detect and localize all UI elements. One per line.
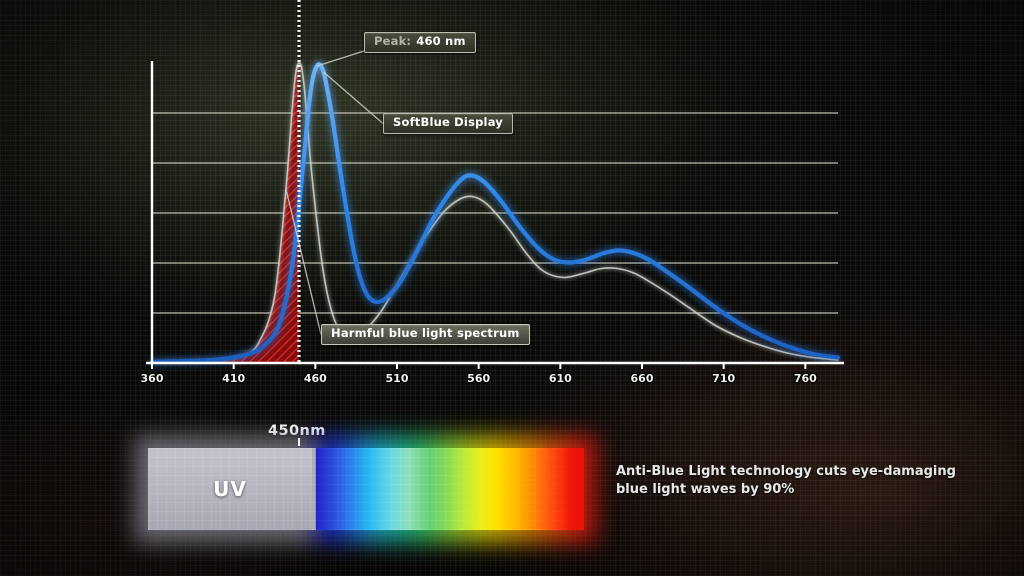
x-axis-label-660: 660 bbox=[631, 372, 654, 385]
callout-softblue-label: SoftBlue Display bbox=[393, 117, 503, 129]
x-axis-label-710: 710 bbox=[712, 372, 735, 385]
callout-peak[interactable]: Peak: 460 nm bbox=[364, 32, 476, 53]
footer-note-line2: blue light waves by 90% bbox=[616, 481, 946, 499]
x-axis-label-460: 460 bbox=[304, 372, 327, 385]
callout-peak-prefix: Peak: bbox=[374, 36, 411, 48]
marker-tick-450nm bbox=[298, 438, 300, 446]
x-axis-label-560: 560 bbox=[467, 372, 490, 385]
x-axis-label-360: 360 bbox=[141, 372, 164, 385]
x-axis-tick-labels: 360410460510560610660710760 bbox=[141, 372, 818, 385]
visible-spectrum-bar: UV bbox=[148, 448, 584, 530]
uv-label: UV bbox=[148, 448, 312, 530]
footer-note: Anti-Blue Light technology cuts eye-dama… bbox=[616, 463, 946, 500]
x-axis-label-760: 760 bbox=[794, 372, 817, 385]
x-axis-label-610: 610 bbox=[549, 372, 572, 385]
footer-note-line1: Anti-Blue Light technology cuts eye-dama… bbox=[616, 463, 946, 481]
infographic-stage: 360410460510560610660710760 Peak: 460 nm… bbox=[0, 0, 1024, 576]
callout-harmful-label: Harmful blue light spectrum bbox=[331, 328, 520, 340]
callout-peak-value: 460 nm bbox=[416, 36, 465, 48]
callout-harmful-blue-light[interactable]: Harmful blue light spectrum bbox=[321, 324, 530, 345]
x-axis-label-510: 510 bbox=[386, 372, 409, 385]
callout-softblue-display[interactable]: SoftBlue Display bbox=[383, 113, 513, 134]
x-axis-label-410: 410 bbox=[222, 372, 245, 385]
